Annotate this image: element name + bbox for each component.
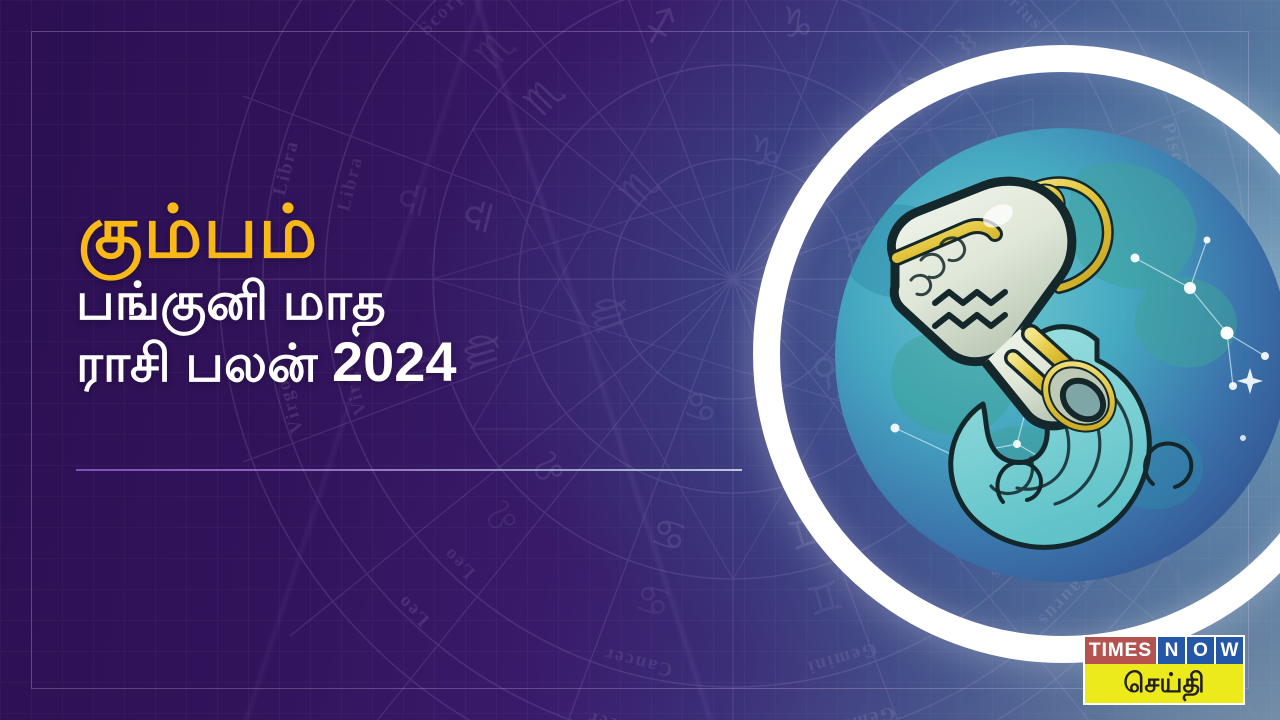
logo-letter-o: O — [1193, 640, 1208, 662]
subtitle-line-1: பங்குனி மாத — [76, 273, 716, 331]
svg-text:Libra: Libra — [269, 138, 303, 198]
logo-letter-n-block: N — [1156, 637, 1185, 664]
svg-text:♑: ♑ — [773, 0, 819, 51]
logo-tamil-text: செய்தி — [1123, 670, 1204, 697]
logo-tamil-band: செய்தி — [1085, 664, 1243, 703]
logo-times-block: TIMES — [1085, 637, 1156, 664]
aquarius-medallion — [835, 128, 1280, 583]
svg-text:♌: ♌ — [522, 438, 580, 496]
logo-letter-o-block: O — [1185, 637, 1214, 664]
svg-text:♋: ♋ — [630, 573, 676, 626]
page-title-zodiac: கும்பம் — [78, 196, 716, 269]
logo-letter-n: N — [1165, 640, 1179, 662]
logo-times-text: TIMES — [1089, 640, 1152, 662]
logo-letter-w: W — [1221, 640, 1239, 662]
subtitle-line-2: ராசி பலன் — [76, 335, 318, 393]
year-label: 2024 — [332, 330, 457, 393]
svg-text:Cancer: Cancer — [585, 707, 659, 720]
headline-divider — [76, 469, 742, 471]
svg-text:♏: ♏ — [516, 68, 574, 126]
svg-text:♋: ♋ — [647, 507, 693, 560]
subtitle-line-2-wrap: ராசி பலன் 2024 — [76, 331, 716, 394]
svg-text:♑: ♑ — [741, 126, 787, 179]
logo-letter-w-block: W — [1214, 637, 1243, 664]
svg-text:Gemini: Gemini — [822, 702, 897, 720]
svg-text:Cancer: Cancer — [601, 643, 675, 681]
page-subtitle: பங்குனி மாத ராசி பலன் 2024 — [76, 273, 716, 394]
zodiac-banner: Capricorn Capricorn Aquarius Pisces Arie… — [0, 0, 1280, 720]
svg-text:♊: ♊ — [800, 569, 847, 623]
svg-text:Aquarius: Aquarius — [967, 0, 1048, 35]
svg-text:Scorpio: Scorpio — [415, 0, 483, 40]
svg-text:♏: ♏ — [467, 21, 525, 79]
svg-text:♌: ♌ — [475, 487, 533, 545]
svg-text:Gemini: Gemini — [804, 638, 879, 678]
svg-text:Leo: Leo — [393, 590, 434, 631]
svg-text:Leo: Leo — [438, 543, 479, 584]
svg-text:♐: ♐ — [637, 0, 684, 54]
times-now-logo[interactable]: TIMES N O W செய்தி — [1083, 635, 1245, 705]
logo-top-row: TIMES N O W — [1085, 637, 1243, 664]
headline-block: கும்பம் பங்குனி மாத ராசி பலன் 2024 — [76, 196, 716, 394]
